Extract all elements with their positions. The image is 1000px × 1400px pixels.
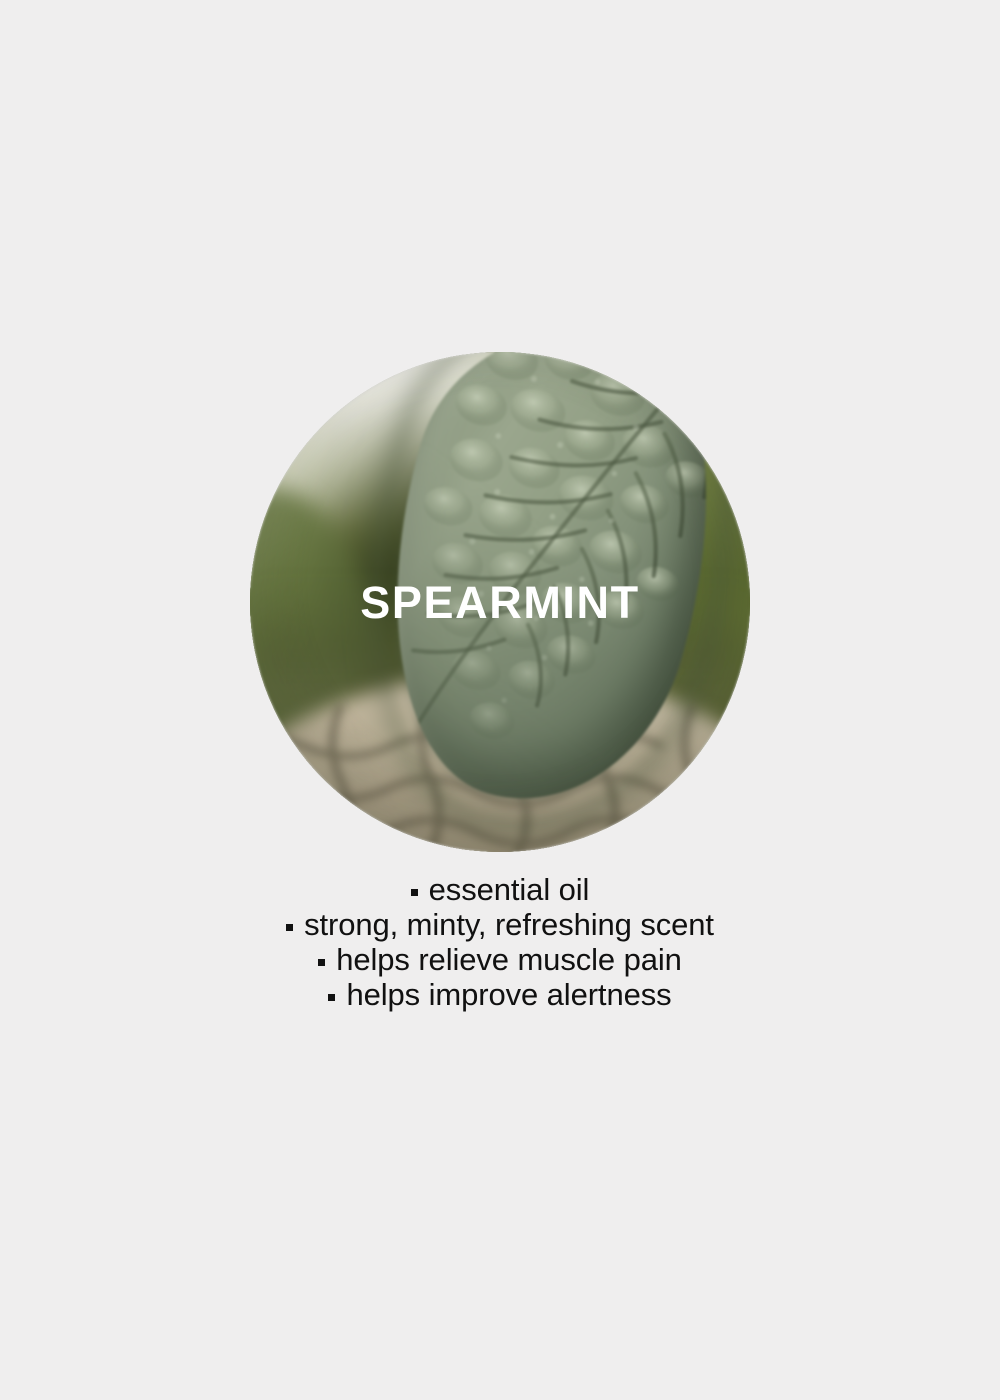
page-title: SPEARMINT bbox=[250, 580, 750, 625]
list-item: helps relieve muscle pain bbox=[0, 942, 1000, 977]
list-item: essential oil bbox=[0, 872, 1000, 907]
list-item: strong, minty, refreshing scent bbox=[0, 907, 1000, 942]
bullet-square-icon bbox=[328, 994, 335, 1001]
product-card: SPEARMINT essential oil strong, minty, r… bbox=[0, 0, 1000, 1400]
list-item-label: helps relieve muscle pain bbox=[336, 942, 682, 977]
benefits-list: essential oil strong, minty, refreshing … bbox=[0, 872, 1000, 1012]
list-item-label: strong, minty, refreshing scent bbox=[304, 907, 714, 942]
bullet-square-icon bbox=[318, 959, 325, 966]
bullet-square-icon bbox=[286, 924, 293, 931]
list-item-label: essential oil bbox=[429, 872, 590, 907]
bullet-square-icon bbox=[411, 889, 418, 896]
list-item-label: helps improve alertness bbox=[346, 977, 671, 1012]
list-item: helps improve alertness bbox=[0, 977, 1000, 1012]
spearmint-leaf-photo: SPEARMINT bbox=[250, 352, 750, 852]
